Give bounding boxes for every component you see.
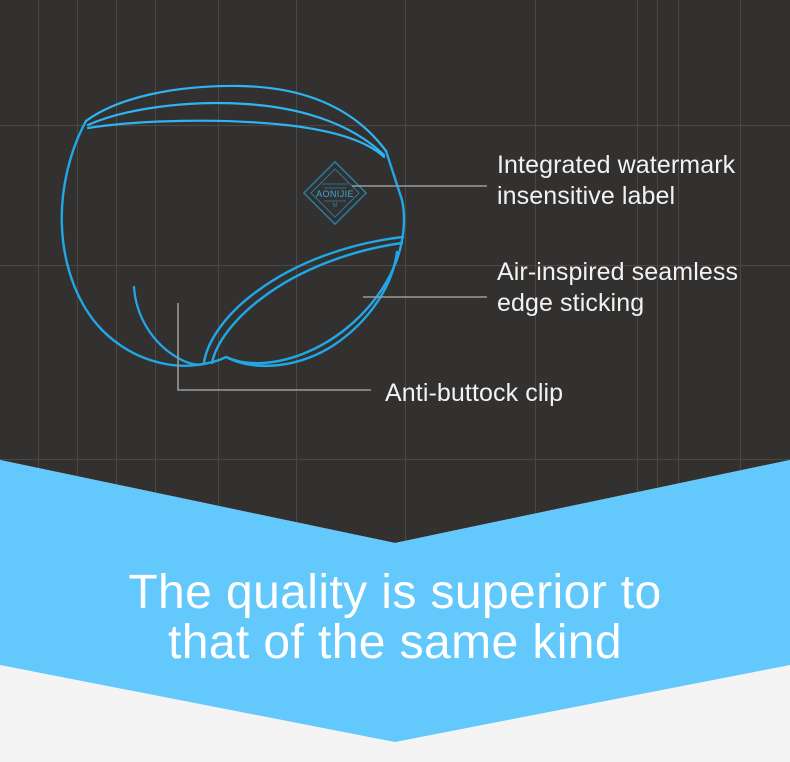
banner-headline: The quality is superior to that of the s… xyxy=(0,568,790,668)
callout-air-inspired-seamless: Air-inspired seamless edge sticking xyxy=(497,257,738,318)
callout-anti-buttock-clip: Anti-buttock clip xyxy=(385,378,563,409)
product-feature-graphic: AONIJIE M Integrated watermark insensiti… xyxy=(0,0,790,762)
aonijie-diamond-label: AONIJIE M xyxy=(304,162,366,224)
hero-panel: AONIJIE M Integrated watermark insensiti… xyxy=(0,0,790,544)
callout-integrated-watermark-label: Integrated watermark insensitive label xyxy=(497,150,735,211)
waistband-top-edge xyxy=(86,86,386,151)
anti-buttock-clip-line xyxy=(134,287,208,365)
leg-opening-seam-inner xyxy=(212,243,402,363)
svg-text:AONIJIE: AONIJIE xyxy=(316,189,354,199)
leader-line-clip xyxy=(178,303,371,390)
svg-text:M: M xyxy=(333,203,338,209)
